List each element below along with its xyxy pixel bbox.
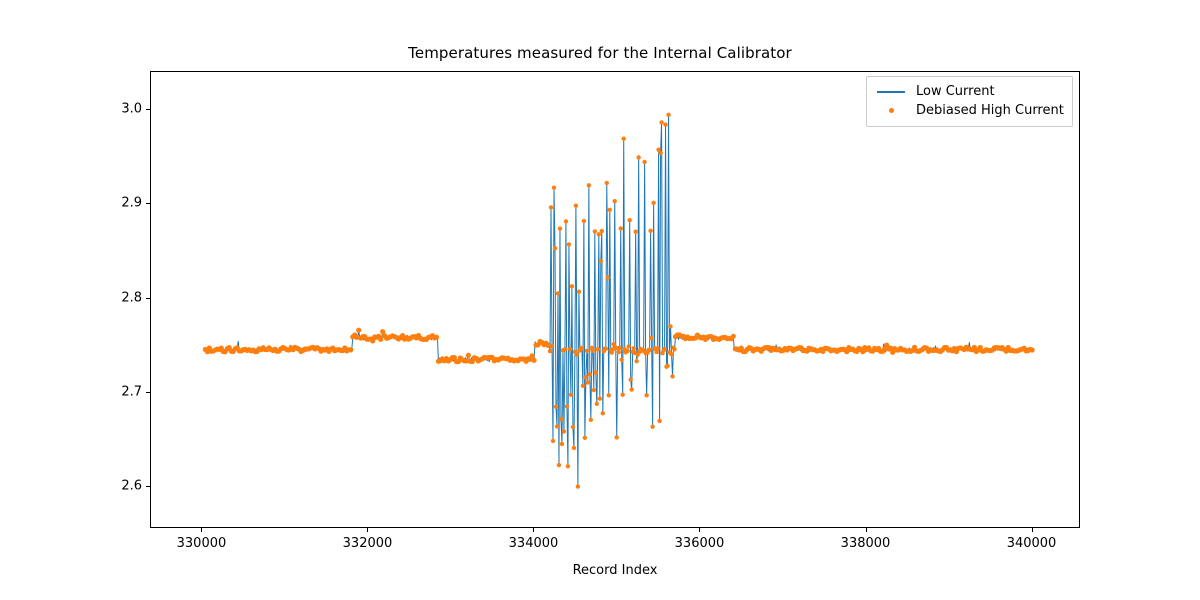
legend-box: Low Current Debiased High Current xyxy=(866,76,1073,127)
data-point xyxy=(613,199,617,203)
y-axis-label: Temperature (K) xyxy=(0,255,1,360)
data-point xyxy=(589,418,593,422)
data-plot xyxy=(151,72,1079,527)
y-tick-label: 3.0 xyxy=(96,102,142,117)
data-point xyxy=(552,185,556,189)
legend-entry-debiased-high-current: Debiased High Current xyxy=(875,101,1064,120)
data-point xyxy=(608,208,612,212)
x-tick-mark xyxy=(367,528,368,532)
data-point xyxy=(562,429,566,433)
figure-canvas: Temperatures measured for the Internal C… xyxy=(0,0,1200,600)
line-icon xyxy=(875,91,907,93)
data-point xyxy=(662,347,666,351)
chart-title: Temperatures measured for the Internal C… xyxy=(0,44,1200,62)
data-point xyxy=(622,137,626,141)
series-debiased-high-current xyxy=(203,113,1035,489)
x-tick-mark xyxy=(699,528,700,532)
data-point xyxy=(665,364,669,368)
data-point xyxy=(668,324,672,328)
x-tick-label: 334000 xyxy=(509,536,559,551)
y-tick-label: 2.7 xyxy=(96,384,142,399)
x-tick-label: 338000 xyxy=(841,536,891,551)
data-point xyxy=(571,425,575,429)
data-point xyxy=(356,328,361,333)
data-point xyxy=(549,205,553,209)
data-point xyxy=(566,464,570,468)
data-point xyxy=(554,405,558,409)
data-point xyxy=(531,358,536,363)
data-point xyxy=(548,349,552,353)
data-point xyxy=(584,375,588,379)
data-point xyxy=(627,218,631,222)
data-point xyxy=(585,349,589,353)
data-point xyxy=(650,425,654,429)
data-point xyxy=(568,347,572,351)
x-tick-mark xyxy=(533,528,534,532)
data-point xyxy=(663,122,667,126)
data-point xyxy=(604,347,608,351)
data-point xyxy=(576,484,580,488)
data-point xyxy=(556,291,560,295)
plot-area xyxy=(150,71,1080,528)
x-tick-label: 336000 xyxy=(675,536,725,551)
data-point xyxy=(594,371,598,375)
data-point xyxy=(642,160,646,164)
data-point xyxy=(620,358,624,362)
data-point xyxy=(577,289,581,293)
data-point xyxy=(593,229,597,233)
x-tick-mark xyxy=(201,528,202,532)
data-point xyxy=(633,230,637,234)
data-point xyxy=(601,411,605,415)
dot-icon xyxy=(875,108,907,113)
x-tick-mark xyxy=(1032,528,1033,532)
data-point xyxy=(553,246,557,250)
data-point xyxy=(731,334,736,339)
data-point xyxy=(606,275,610,279)
series-low-current xyxy=(205,115,1032,487)
data-point xyxy=(550,344,554,348)
data-point xyxy=(580,346,584,350)
data-point xyxy=(596,347,600,351)
data-point xyxy=(588,372,592,376)
data-point xyxy=(648,229,652,233)
data-point xyxy=(563,347,567,351)
data-point xyxy=(564,219,568,223)
data-point xyxy=(551,439,555,443)
legend-label-low-current: Low Current xyxy=(916,84,995,99)
data-point xyxy=(582,219,586,223)
data-point xyxy=(619,226,623,230)
data-point xyxy=(581,384,585,388)
data-point xyxy=(434,335,439,340)
data-point xyxy=(583,436,587,440)
data-point xyxy=(587,183,591,187)
legend-label-debiased-high-current: Debiased High Current xyxy=(916,103,1064,118)
data-point xyxy=(378,337,383,342)
data-point xyxy=(1030,347,1035,352)
data-point xyxy=(597,232,601,236)
data-point xyxy=(598,396,602,400)
data-point xyxy=(649,336,653,340)
data-point xyxy=(466,353,471,358)
data-point xyxy=(529,353,534,358)
data-point xyxy=(634,359,638,363)
data-point xyxy=(631,346,635,350)
data-point xyxy=(570,284,574,288)
data-point xyxy=(555,424,559,428)
data-point xyxy=(592,388,596,392)
data-point xyxy=(657,419,661,423)
data-point xyxy=(572,446,576,450)
data-point xyxy=(666,113,670,117)
data-point xyxy=(545,343,550,348)
data-point xyxy=(558,226,562,230)
data-point xyxy=(605,181,609,185)
data-point xyxy=(560,442,564,446)
data-point xyxy=(607,393,611,397)
data-point xyxy=(595,402,599,406)
data-point xyxy=(655,347,659,351)
data-point xyxy=(599,259,603,263)
x-tick-label: 340000 xyxy=(1007,536,1057,551)
data-point xyxy=(621,393,625,397)
data-point xyxy=(615,435,619,439)
data-point xyxy=(575,352,579,356)
data-point xyxy=(600,229,604,233)
data-point xyxy=(569,393,573,397)
data-point xyxy=(565,404,569,408)
data-point xyxy=(559,417,563,421)
data-point xyxy=(591,348,595,352)
y-tick-label: 2.8 xyxy=(96,290,142,305)
data-point xyxy=(627,344,631,348)
data-point xyxy=(617,350,621,354)
x-tick-label: 332000 xyxy=(343,536,393,551)
data-point xyxy=(629,387,633,391)
legend-entry-low-current: Low Current xyxy=(875,82,1064,101)
data-point xyxy=(647,348,651,352)
data-point xyxy=(567,242,571,246)
data-point xyxy=(574,203,578,207)
y-tick-label: 2.6 xyxy=(96,478,142,493)
data-point xyxy=(636,155,640,159)
data-point xyxy=(626,349,630,353)
data-point xyxy=(586,380,590,384)
data-point xyxy=(670,374,674,378)
data-point xyxy=(669,352,673,356)
x-tick-mark xyxy=(866,528,867,532)
data-point xyxy=(658,151,662,155)
data-point xyxy=(618,346,622,350)
data-point xyxy=(628,377,632,381)
x-axis-label: Record Index xyxy=(573,563,658,578)
x-tick-label: 330000 xyxy=(177,536,227,551)
data-point xyxy=(644,393,648,397)
data-point xyxy=(557,463,561,467)
data-point xyxy=(348,347,353,352)
data-point xyxy=(651,201,655,205)
data-point xyxy=(672,347,676,351)
data-point xyxy=(659,120,663,124)
y-tick-label: 2.9 xyxy=(96,196,142,211)
